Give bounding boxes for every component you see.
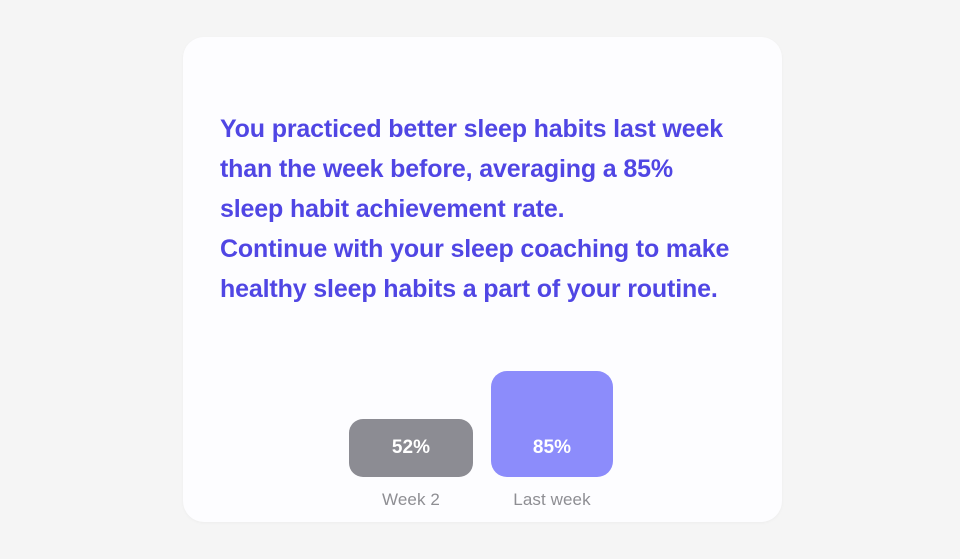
bar-value-last-week: 85% — [533, 438, 571, 477]
sleep-insight-card: You practiced better sleep habits last w… — [183, 37, 782, 522]
bar-label-last-week: Last week — [491, 490, 613, 510]
bar-last-week[interactable]: 85% — [491, 371, 613, 477]
bar-week-2[interactable]: 52% — [349, 419, 473, 477]
bar-label-week-2: Week 2 — [349, 490, 473, 510]
sleep-habit-bar-chart: 52% 85% Week 2 Last week — [183, 37, 782, 522]
bar-value-week-2: 52% — [392, 438, 430, 477]
